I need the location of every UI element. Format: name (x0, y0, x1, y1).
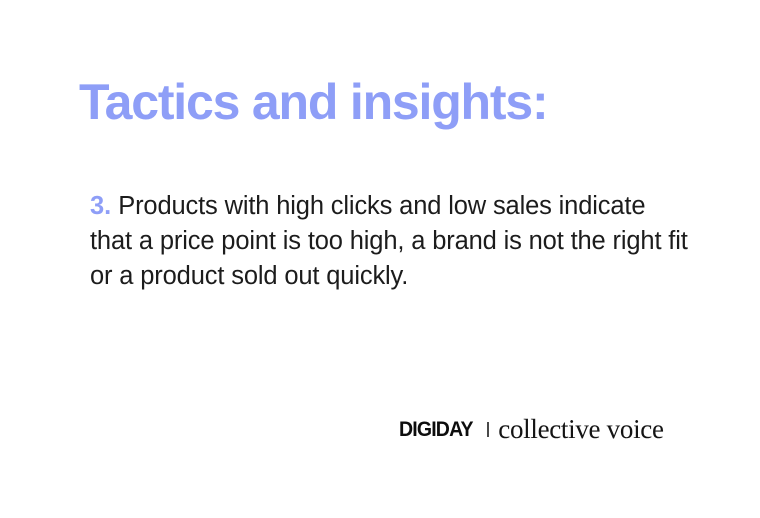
digiday-wordmark: DIGIDAY (399, 419, 473, 440)
list-item-text: Products with high clicks and low sales … (90, 192, 688, 290)
list-item-number: 3. (90, 192, 111, 220)
collective-voice-wordmark: collective voice (498, 416, 663, 443)
page-title: Tactics and insights: (79, 74, 547, 132)
list-item: 3. Products with high clicks and low sal… (90, 189, 690, 294)
footer-logo-lockup: DIGIDAY collective voice (399, 414, 664, 444)
slide-canvas: Tactics and insights: 3. Products with h… (0, 0, 760, 518)
body-content-block: 3. Products with high clicks and low sal… (90, 189, 690, 294)
logo-divider-icon (487, 422, 489, 437)
